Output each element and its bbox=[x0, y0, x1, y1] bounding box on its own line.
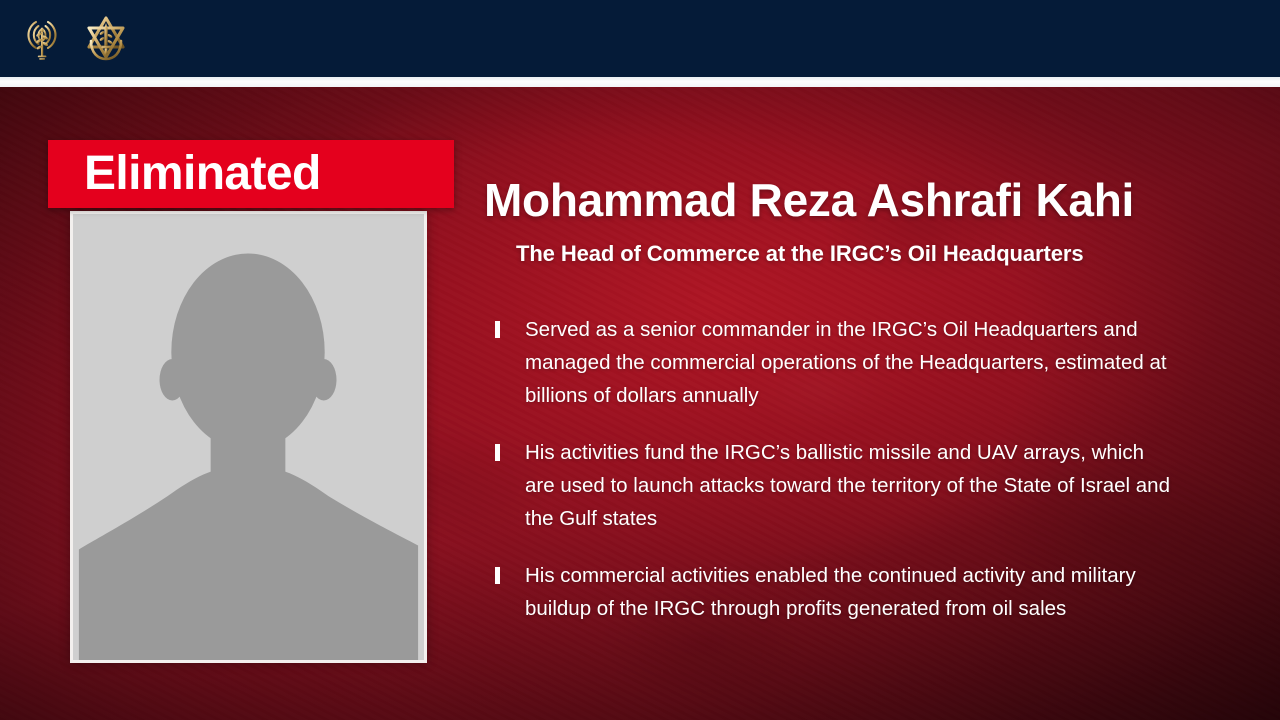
profile-text-column: Mohammad Reza Ashrafi Kahi The Head of C… bbox=[484, 176, 1244, 625]
slide-root: Eliminated Mohammad Reza Ashrafi Kahi Th… bbox=[0, 0, 1280, 720]
bullet-marker-icon bbox=[495, 321, 500, 338]
list-item: Served as a senior commander in the IRGC… bbox=[495, 313, 1175, 412]
header-bar bbox=[0, 0, 1280, 77]
bullet-marker-icon bbox=[495, 567, 500, 584]
list-item-text: Served as a senior commander in the IRGC… bbox=[525, 318, 1167, 407]
portrait-photo-frame bbox=[70, 211, 427, 663]
list-item: His commercial activities enabled the co… bbox=[495, 559, 1175, 625]
page-title: Mohammad Reza Ashrafi Kahi bbox=[484, 176, 1244, 224]
bullet-marker-icon bbox=[495, 444, 500, 461]
list-item-text: His commercial activities enabled the co… bbox=[525, 564, 1136, 620]
header-divider bbox=[0, 77, 1280, 87]
idf-spokesperson-broadcast-icon bbox=[16, 14, 68, 64]
profile-bullet-list: Served as a senior commander in the IRGC… bbox=[495, 313, 1244, 625]
logo-group bbox=[16, 13, 134, 65]
person-role-subtitle: The Head of Commerce at the IRGC’s Oil H… bbox=[516, 241, 1244, 267]
person-placeholder-icon bbox=[73, 214, 424, 660]
status-badge: Eliminated bbox=[48, 140, 454, 208]
list-item-text: His activities fund the IRGC’s ballistic… bbox=[525, 441, 1170, 530]
list-item: His activities fund the IRGC’s ballistic… bbox=[495, 436, 1175, 535]
idf-emblem-icon bbox=[78, 13, 134, 65]
status-badge-label: Eliminated bbox=[84, 150, 321, 198]
